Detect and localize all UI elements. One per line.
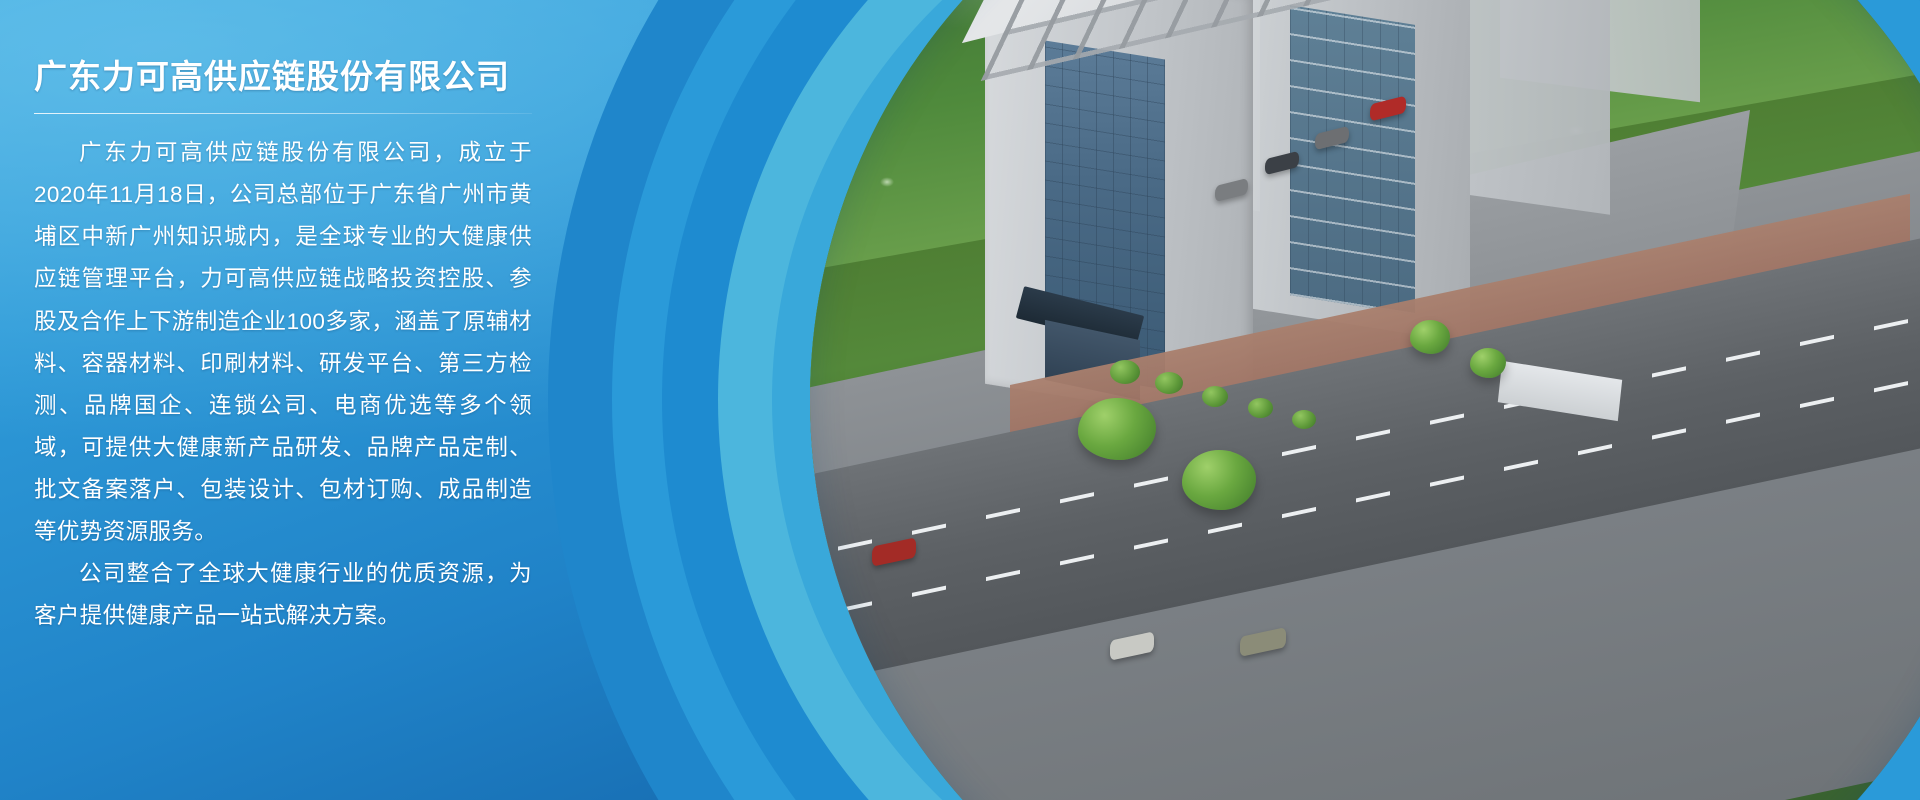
photo-disc-edge: [810, 0, 1920, 800]
company-description: 广东力可高供应链股份有限公司，成立于2020年11月18日，公司总部位于广东省广…: [34, 114, 532, 637]
company-intro-text-column: 广东力可高供应链股份有限公司 广东力可高供应链股份有限公司，成立于2020年11…: [0, 0, 560, 637]
paragraph-solution: 公司整合了全球大健康行业的优质资源，为客户提供健康产品一站式解决方案。: [34, 553, 532, 637]
page-title: 广东力可高供应链股份有限公司: [34, 0, 532, 97]
company-profile-banner: 广东力可高供应链股份有限公司 广东力可高供应链股份有限公司，成立于2020年11…: [0, 0, 1920, 800]
facility-photo-disc: [810, 0, 1920, 800]
paragraph-overview: 广东力可高供应链股份有限公司，成立于2020年11月18日，公司总部位于广东省广…: [34, 132, 532, 553]
